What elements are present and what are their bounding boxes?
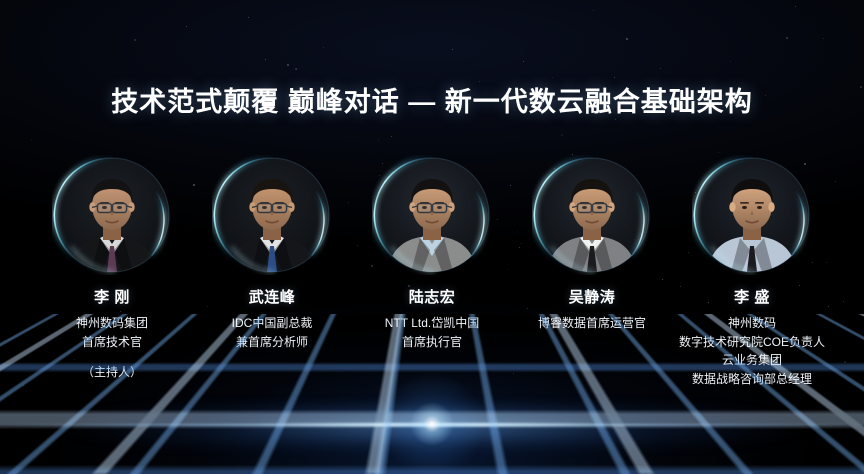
slide-canvas: 技术范式颠覆 巅峰对话 — 新一代数云融合基础架构 李 刚神州数码集团首席技术官… bbox=[0, 0, 864, 474]
speaker-affiliation-line: 神州数码 bbox=[672, 314, 832, 333]
speaker-name: 吴静涛 bbox=[512, 289, 672, 307]
speaker-card[interactable]: 李 刚神州数码集团首席技术官（主持人） bbox=[32, 155, 192, 381]
star-particle bbox=[718, 152, 719, 153]
avatar bbox=[695, 158, 809, 272]
speaker-affiliation-line: 数据战略咨询部总经理 bbox=[672, 370, 832, 389]
star-particle bbox=[593, 10, 594, 11]
star-particle bbox=[614, 77, 615, 78]
star-particle bbox=[31, 139, 32, 140]
star-particle bbox=[523, 61, 524, 62]
speaker-affiliation: 神州数码集团首席技术官 bbox=[32, 314, 192, 351]
speaker-name: 李 刚 bbox=[32, 289, 192, 307]
star-particle bbox=[265, 59, 266, 60]
star-particle bbox=[296, 69, 297, 70]
speaker-affiliation-line: 首席技术官 bbox=[32, 333, 192, 352]
star-particle bbox=[248, 17, 249, 18]
speaker-affiliation-line: 兼首席分析师 bbox=[192, 333, 352, 352]
star-particle bbox=[561, 134, 563, 136]
avatar bbox=[215, 158, 329, 272]
speaker-card[interactable]: 武连峰IDC中国副总裁兼首席分析师 bbox=[192, 155, 352, 351]
portrait-photo bbox=[695, 158, 809, 272]
speaker-name: 李 盛 bbox=[672, 289, 832, 307]
speaker-avatar[interactable] bbox=[692, 155, 812, 275]
avatar bbox=[535, 158, 649, 272]
star-particle bbox=[134, 39, 136, 41]
speaker-avatar[interactable] bbox=[372, 155, 492, 275]
page-title: 技术范式颠覆 巅峰对话 — 新一代数云融合基础架构 bbox=[0, 80, 864, 119]
star-particle bbox=[795, 6, 796, 7]
star-particle bbox=[786, 37, 788, 39]
speaker-card[interactable]: 吴静涛博睿数据首席运营官 bbox=[512, 155, 672, 333]
speaker-affiliation-line: 云业务集团 bbox=[672, 351, 832, 370]
speaker-avatar[interactable] bbox=[212, 155, 332, 275]
star-particle bbox=[378, 139, 379, 140]
star-particle bbox=[552, 77, 553, 78]
avatar bbox=[375, 158, 489, 272]
portrait-photo bbox=[215, 158, 329, 272]
star-particle bbox=[823, 38, 824, 39]
speaker-affiliation: 博睿数据首席运营官 bbox=[512, 314, 672, 333]
speaker-name: 武连峰 bbox=[192, 289, 352, 307]
star-particle bbox=[186, 26, 187, 27]
speaker-affiliation: 神州数码数字技术研究院COE负责人云业务集团数据战略咨询部总经理 bbox=[672, 314, 832, 388]
star-particle bbox=[615, 119, 616, 120]
star-particle bbox=[626, 38, 628, 40]
speaker-affiliation-line: IDC中国副总裁 bbox=[192, 314, 352, 333]
speaker-name: 陆志宏 bbox=[352, 289, 512, 307]
speaker-affiliation-line: 首席执行官 bbox=[352, 333, 512, 352]
star-particle bbox=[391, 136, 392, 137]
star-particle bbox=[287, 64, 289, 66]
speaker-affiliation: NTT Ltd.岱凯中国首席执行官 bbox=[352, 314, 512, 351]
speaker-avatar[interactable] bbox=[52, 155, 172, 275]
speaker-list: 李 刚神州数码集团首席技术官（主持人）武连峰IDC中国副总裁兼首席分析师陆志宏N… bbox=[0, 155, 864, 388]
speaker-note: （主持人） bbox=[32, 363, 192, 381]
portrait-photo bbox=[55, 158, 169, 272]
star-particle bbox=[323, 47, 324, 48]
speaker-affiliation-line: 博睿数据首席运营官 bbox=[512, 314, 672, 333]
speaker-affiliation: IDC中国副总裁兼首席分析师 bbox=[192, 314, 352, 351]
speaker-card[interactable]: 陆志宏NTT Ltd.岱凯中国首席执行官 bbox=[352, 155, 512, 351]
speaker-affiliation-line: NTT Ltd.岱凯中国 bbox=[352, 314, 512, 333]
speaker-affiliation-line: 神州数码集团 bbox=[32, 314, 192, 333]
portrait-photo bbox=[535, 158, 649, 272]
portrait-photo bbox=[375, 158, 489, 272]
avatar bbox=[55, 158, 169, 272]
speaker-affiliation-line: 数字技术研究院COE负责人 bbox=[672, 333, 832, 352]
star-particle bbox=[660, 68, 661, 69]
star-particle bbox=[452, 49, 453, 50]
speaker-avatar[interactable] bbox=[532, 155, 652, 275]
speaker-card[interactable]: 李 盛神州数码数字技术研究院COE负责人云业务集团数据战略咨询部总经理 bbox=[672, 155, 832, 388]
star-particle bbox=[730, 61, 731, 62]
